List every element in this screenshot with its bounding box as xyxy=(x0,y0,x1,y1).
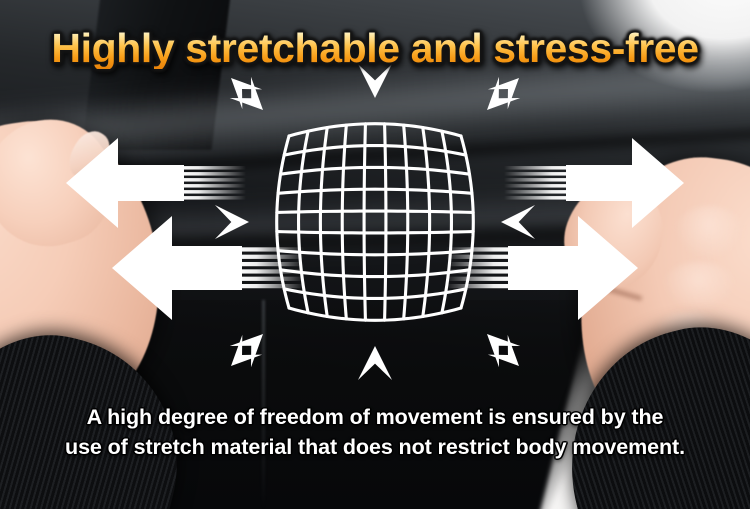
caption-line-2: use of stretch material that does not re… xyxy=(0,432,750,463)
caption-line-1: A high degree of freedom of movement is … xyxy=(0,402,750,433)
arrow-mesh-down xyxy=(358,346,392,380)
arrow-mesh-left xyxy=(215,205,249,239)
arrow-large-left-lower xyxy=(112,216,304,320)
caption: A high degree of freedom of movement is … xyxy=(0,402,750,463)
arrow-large-right-upper xyxy=(504,138,684,228)
stretch-mesh-grid xyxy=(277,124,474,321)
arrow-large-right-lower xyxy=(446,216,638,320)
arrow-mesh-right xyxy=(501,205,535,239)
page-title: Highly stretchable and stress-free xyxy=(0,28,750,69)
promo-banner: Highly stretchable and stress-free A hig… xyxy=(0,0,750,509)
arrow-large-left-upper xyxy=(66,138,246,228)
stretch-arrows xyxy=(66,64,684,380)
